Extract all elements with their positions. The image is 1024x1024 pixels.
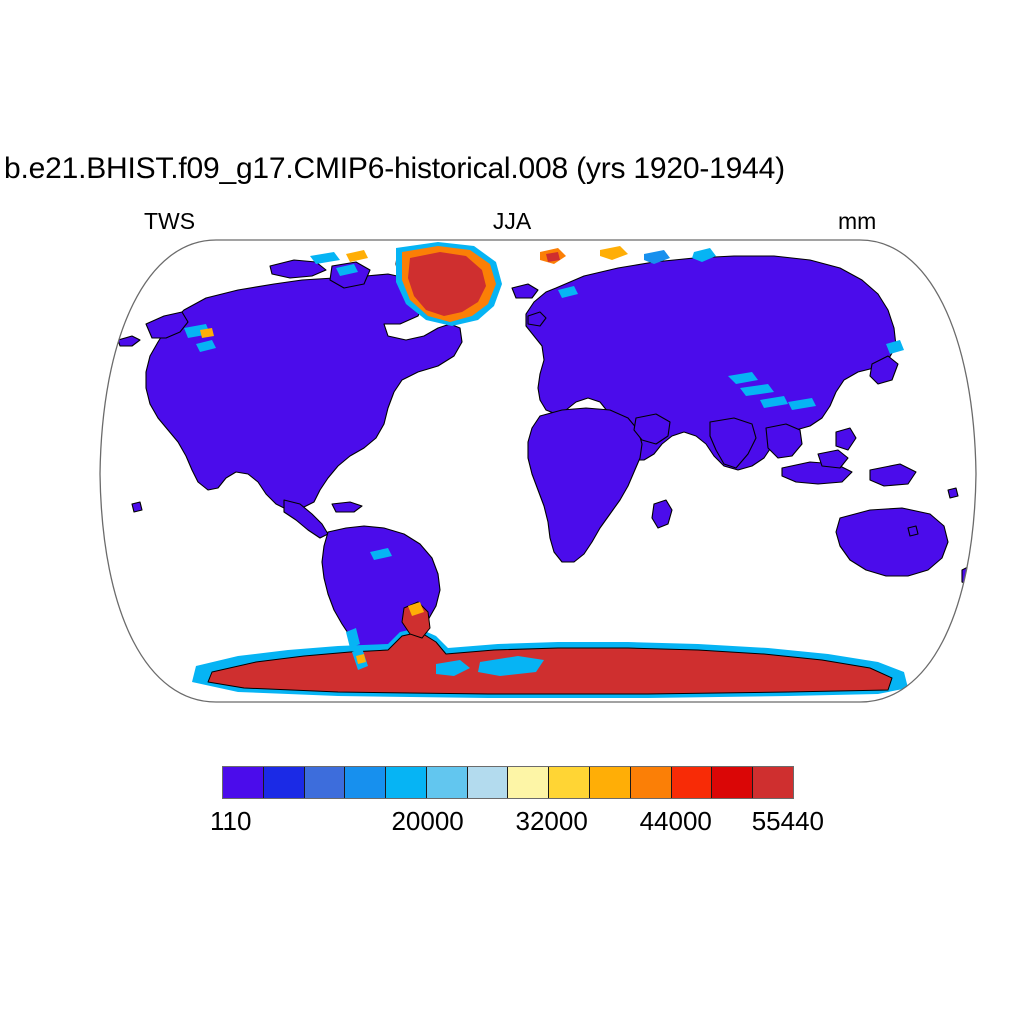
colorbar-tick-44000: 44000 bbox=[640, 806, 712, 836]
colorbar-tick-55440: 55440 bbox=[752, 806, 824, 836]
colorbar-cell-3[interactable] bbox=[345, 767, 386, 798]
colorbar-cell-0[interactable] bbox=[223, 767, 264, 798]
colorbar-cell-2[interactable] bbox=[305, 767, 346, 798]
colorbar-cell-7[interactable] bbox=[508, 767, 549, 798]
units-label: mm bbox=[838, 208, 876, 234]
landmass-island-speck-2 bbox=[948, 488, 958, 498]
map-ocean bbox=[88, 232, 988, 717]
colorbar-cell-5[interactable] bbox=[427, 767, 468, 798]
colorbar-cell-9[interactable] bbox=[590, 767, 631, 798]
colorbar-cell-13[interactable] bbox=[753, 767, 793, 798]
colorbar-cell-12[interactable] bbox=[712, 767, 753, 798]
world-map bbox=[88, 232, 988, 717]
colorbar-cell-8[interactable] bbox=[549, 767, 590, 798]
colorbar[interactable] bbox=[222, 766, 794, 799]
colorbar-tick-110: 110 bbox=[210, 806, 251, 836]
colorbar-cell-10[interactable] bbox=[631, 767, 672, 798]
colorbar-tick-20000: 20000 bbox=[391, 806, 463, 836]
page-title: b.e21.BHIST.f09_g17.CMIP6-historical.008… bbox=[4, 152, 1024, 186]
colorbar-cell-6[interactable] bbox=[468, 767, 509, 798]
colorbar-cell-1[interactable] bbox=[264, 767, 305, 798]
landmass-island-speck-1 bbox=[132, 502, 142, 512]
colorbar-cell-4[interactable] bbox=[386, 767, 427, 798]
landmass-island-speck-3 bbox=[908, 526, 918, 536]
colorbar-tick-32000: 32000 bbox=[516, 806, 588, 836]
colorbar-cell-11[interactable] bbox=[672, 767, 713, 798]
figure-canvas: b.e21.BHIST.f09_g17.CMIP6-historical.008… bbox=[0, 0, 1024, 1024]
colorbar-tick-labels: 11020000320004400055440 bbox=[0, 806, 1024, 840]
